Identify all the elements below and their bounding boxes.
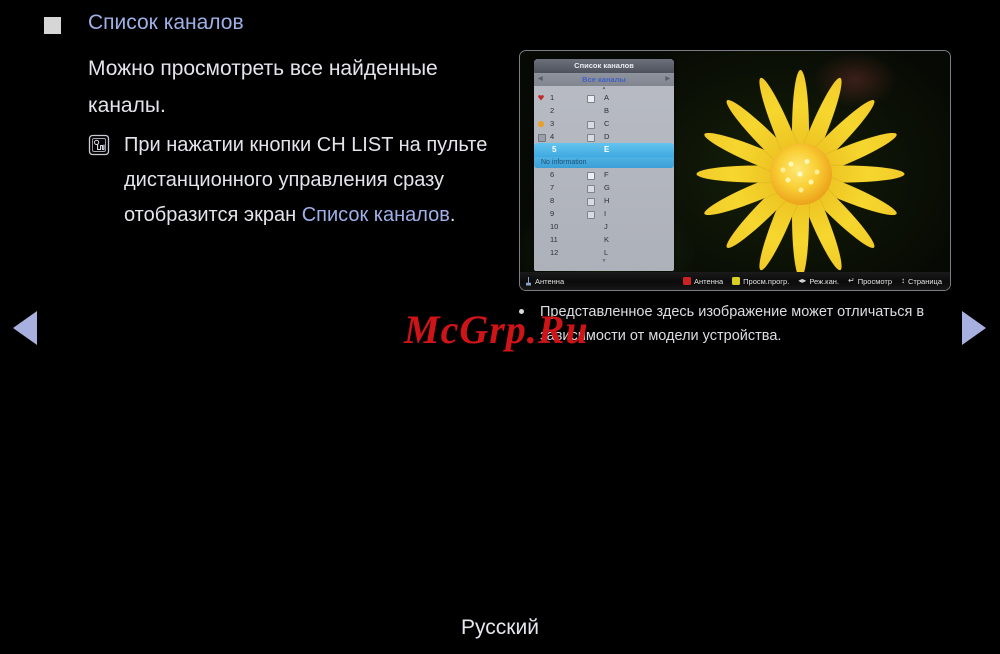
chevron-left-icon[interactable]: ◀ bbox=[538, 73, 543, 86]
yellow-flower-graphic bbox=[688, 61, 913, 286]
channel-name: J bbox=[604, 220, 608, 233]
lock-icon bbox=[587, 172, 595, 180]
channel-list-panel[interactable]: Список каналов ◀ Все каналы ▶ ▲ 1 A 2 B … bbox=[534, 59, 674, 271]
channel-list-filter[interactable]: ◀ Все каналы ▶ bbox=[534, 73, 674, 86]
channel-row[interactable]: 2 B bbox=[534, 104, 674, 117]
channel-name: A bbox=[604, 91, 609, 104]
channel-number: 2 bbox=[550, 104, 554, 117]
channel-row[interactable]: 6 F bbox=[534, 168, 674, 181]
channel-name: D bbox=[604, 130, 609, 143]
grey-box-icon bbox=[538, 134, 546, 142]
channel-number: 3 bbox=[550, 117, 554, 130]
key-hint-channel-mode[interactable]: ◂▸ Реж.кан. bbox=[798, 277, 839, 286]
channel-number: 12 bbox=[550, 246, 558, 259]
up-down-arrows-icon: ↕ bbox=[901, 277, 905, 285]
note-text-after: . bbox=[450, 204, 456, 226]
channel-rows: 1 A 2 B 3 C 4 D 5 E bbox=[534, 91, 674, 259]
channel-row[interactable]: 11 K bbox=[534, 233, 674, 246]
channel-row[interactable]: 9 I bbox=[534, 207, 674, 220]
channel-row[interactable]: 8 H bbox=[534, 194, 674, 207]
next-page-arrow-icon[interactable] bbox=[962, 311, 986, 345]
channel-name: K bbox=[604, 233, 609, 246]
tv-source-indicator: Антенна bbox=[520, 277, 564, 286]
red-key-icon bbox=[683, 277, 691, 285]
key-hint-label: Реж.кан. bbox=[809, 277, 839, 286]
left-right-arrows-icon: ◂▸ bbox=[798, 277, 806, 285]
footer-language-label: Русский bbox=[0, 616, 1000, 640]
channel-row[interactable]: 12 L bbox=[534, 246, 674, 259]
channel-name: F bbox=[604, 168, 609, 181]
dot-icon bbox=[587, 134, 595, 142]
channel-name: C bbox=[604, 117, 609, 130]
dot-icon bbox=[587, 121, 595, 129]
channel-number: 9 bbox=[550, 207, 554, 220]
antenna-icon bbox=[526, 277, 531, 286]
channel-info-text: No information bbox=[534, 157, 674, 168]
channel-row[interactable]: 7 G bbox=[534, 181, 674, 194]
image-caption: Представленное здесь изображение может о… bbox=[519, 300, 939, 348]
note-text-accent: Список каналов bbox=[302, 204, 450, 226]
key-hint-page[interactable]: ↕ Страница bbox=[901, 277, 942, 286]
key-hint-label: Просм.прогр. bbox=[743, 277, 789, 286]
channel-list-title: Список каналов bbox=[534, 59, 674, 73]
heart-icon bbox=[538, 95, 544, 101]
channel-row[interactable]: 3 C bbox=[534, 117, 674, 130]
chevron-right-icon[interactable]: ▶ bbox=[665, 73, 670, 86]
key-hint-label: Просмотр bbox=[858, 277, 892, 286]
channel-row-selected[interactable]: 5 E bbox=[534, 143, 674, 157]
channel-number: 6 bbox=[550, 168, 554, 181]
enter-key-icon: ↵ bbox=[848, 277, 855, 285]
channel-name: G bbox=[604, 181, 610, 194]
key-hint-label: Страница bbox=[908, 277, 942, 286]
channel-row[interactable]: 10 J bbox=[534, 220, 674, 233]
image-caption-text: Представленное здесь изображение может о… bbox=[540, 300, 939, 348]
channel-number: 7 bbox=[550, 181, 554, 194]
filled-square-bullet-icon bbox=[44, 17, 61, 34]
channel-row[interactable]: 1 A bbox=[534, 91, 674, 104]
dot-icon bbox=[587, 185, 595, 193]
key-hint-label: Антенна bbox=[694, 277, 723, 286]
channel-number: 4 bbox=[550, 130, 554, 143]
tv-key-hints: Антенна Просм.прогр. ◂▸ Реж.кан. ↵ Просм… bbox=[683, 277, 950, 286]
key-hint-antenna[interactable]: Антенна bbox=[683, 277, 723, 286]
channel-number: 1 bbox=[550, 91, 554, 104]
channel-number: 8 bbox=[550, 194, 554, 207]
channel-name: B bbox=[604, 104, 609, 117]
yellow-key-icon bbox=[732, 277, 740, 285]
channel-number: 5 bbox=[552, 143, 556, 157]
key-hint-program-view[interactable]: Просм.прогр. bbox=[732, 277, 789, 286]
channel-name: E bbox=[604, 143, 609, 157]
note-text: При нажатии кнопки CH LIST на пульте дис… bbox=[124, 128, 508, 233]
tv-screenshot-panel: Список каналов ◀ Все каналы ▶ ▲ 1 A 2 B … bbox=[519, 50, 951, 291]
section-heading: Список каналов bbox=[44, 10, 244, 36]
channel-number: 10 bbox=[550, 220, 558, 233]
page-title: Список каналов bbox=[88, 10, 244, 36]
caret-down-icon[interactable]: ▼ bbox=[534, 259, 674, 264]
press-button-icon bbox=[88, 134, 110, 156]
channel-number: 11 bbox=[550, 233, 558, 246]
tv-source-label: Антенна bbox=[535, 277, 564, 286]
key-hint-view[interactable]: ↵ Просмотр bbox=[848, 277, 892, 286]
dot-icon bbox=[587, 211, 595, 219]
content-column: Список каналов Можно просмотреть все най… bbox=[0, 0, 505, 300]
channel-name: H bbox=[604, 194, 609, 207]
flame-icon bbox=[538, 121, 544, 127]
body-paragraph: Можно просмотреть все найденные каналы. bbox=[88, 50, 508, 124]
dot-icon bbox=[587, 198, 595, 206]
note-block: При нажатии кнопки CH LIST на пульте дис… bbox=[88, 128, 508, 233]
previous-page-arrow-icon[interactable] bbox=[13, 311, 37, 345]
round-bullet-icon bbox=[519, 309, 524, 314]
tv-status-bar: Антенна Антенна Просм.прогр. ◂▸ Реж.кан.… bbox=[520, 272, 950, 290]
channel-row[interactable]: 4 D bbox=[534, 130, 674, 143]
channel-name: L bbox=[604, 246, 608, 259]
channel-list-filter-label: Все каналы bbox=[582, 75, 626, 84]
flower-center bbox=[770, 143, 832, 205]
channel-name: I bbox=[604, 207, 606, 220]
lock-icon bbox=[587, 95, 595, 103]
